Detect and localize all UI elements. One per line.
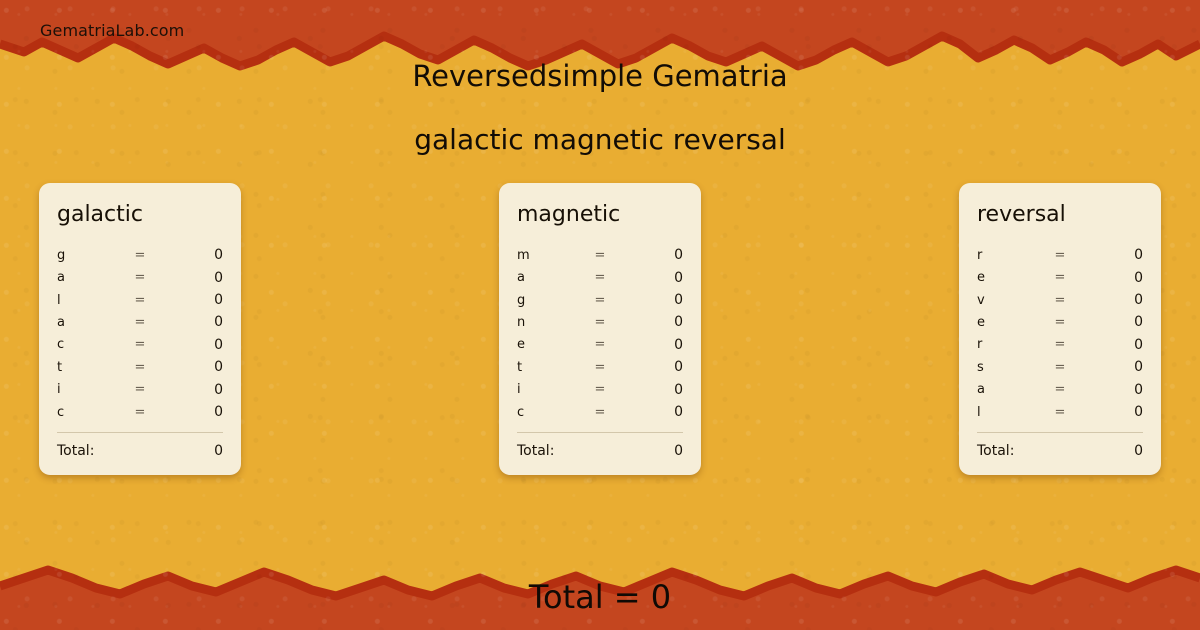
- letter-value: 0: [620, 314, 683, 330]
- letter-value: 0: [1080, 359, 1143, 375]
- card-divider: [977, 432, 1143, 433]
- equals-sign: =: [580, 315, 620, 330]
- card-total-value: 0: [214, 443, 223, 459]
- letter-value: 0: [160, 382, 223, 398]
- letter-label: e: [517, 337, 580, 352]
- letter-label: i: [57, 382, 120, 397]
- equals-sign: =: [1040, 337, 1080, 352]
- word-card-title: galactic: [57, 203, 223, 226]
- equals-sign: =: [120, 382, 160, 397]
- letter-row: v=0: [977, 289, 1143, 311]
- letter-label: n: [517, 315, 580, 330]
- equals-sign: =: [120, 293, 160, 308]
- letter-label: e: [977, 270, 1040, 285]
- letter-value: 0: [620, 247, 683, 263]
- letter-label: m: [517, 248, 580, 263]
- letter-row: a=0: [517, 266, 683, 288]
- letter-row: r=0: [977, 244, 1143, 266]
- letter-row: g=0: [57, 244, 223, 266]
- equals-sign: =: [580, 405, 620, 420]
- card-total-value: 0: [674, 443, 683, 459]
- card-total-row: Total:0: [517, 443, 683, 459]
- letter-value: 0: [160, 270, 223, 286]
- letter-row: r=0: [977, 334, 1143, 356]
- letter-value: 0: [160, 404, 223, 420]
- letter-row: n=0: [517, 311, 683, 333]
- letter-row: t=0: [57, 356, 223, 378]
- letter-value: 0: [1080, 382, 1143, 398]
- letter-label: r: [977, 337, 1040, 352]
- letter-label: a: [57, 270, 120, 285]
- equals-sign: =: [1040, 293, 1080, 308]
- letter-row: i=0: [57, 378, 223, 400]
- letter-value: 0: [620, 359, 683, 375]
- card-total-row: Total:0: [57, 443, 223, 459]
- equals-sign: =: [580, 293, 620, 308]
- letter-row: a=0: [57, 266, 223, 288]
- equals-sign: =: [1040, 382, 1080, 397]
- letter-label: c: [57, 405, 120, 420]
- letter-label: l: [977, 405, 1040, 420]
- letter-value: 0: [160, 314, 223, 330]
- word-card-title: magnetic: [517, 203, 683, 226]
- letter-value-rows: m=0a=0g=0n=0e=0t=0i=0c=0: [517, 244, 683, 423]
- card-total-row: Total:0: [977, 443, 1143, 459]
- word-card: magneticm=0a=0g=0n=0e=0t=0i=0c=0Total:0: [499, 183, 701, 475]
- equals-sign: =: [1040, 405, 1080, 420]
- letter-row: c=0: [517, 401, 683, 423]
- equals-sign: =: [1040, 315, 1080, 330]
- letter-label: a: [517, 270, 580, 285]
- letter-label: g: [517, 293, 580, 308]
- letter-row: t=0: [517, 356, 683, 378]
- word-card: reversalr=0e=0v=0e=0r=0s=0a=0l=0Total:0: [959, 183, 1161, 475]
- letter-value: 0: [620, 404, 683, 420]
- letter-label: a: [57, 315, 120, 330]
- letter-row: l=0: [57, 289, 223, 311]
- card-total-label: Total:: [977, 443, 1134, 459]
- card-total-label: Total:: [517, 443, 674, 459]
- card-divider: [517, 432, 683, 433]
- equals-sign: =: [580, 270, 620, 285]
- letter-value-rows: r=0e=0v=0e=0r=0s=0a=0l=0: [977, 244, 1143, 423]
- letter-value: 0: [1080, 270, 1143, 286]
- grand-total: Total = 0: [0, 578, 1200, 616]
- letter-label: c: [57, 337, 120, 352]
- equals-sign: =: [120, 360, 160, 375]
- letter-label: t: [57, 360, 120, 375]
- letter-label: c: [517, 405, 580, 420]
- letter-label: i: [517, 382, 580, 397]
- site-logo[interactable]: GematriaLab.com: [40, 21, 184, 40]
- letter-label: s: [977, 360, 1040, 375]
- letter-row: e=0: [517, 334, 683, 356]
- letter-row: a=0: [57, 311, 223, 333]
- letter-value: 0: [1080, 404, 1143, 420]
- letter-label: g: [57, 248, 120, 263]
- equals-sign: =: [580, 360, 620, 375]
- equals-sign: =: [580, 337, 620, 352]
- equals-sign: =: [120, 248, 160, 263]
- letter-value: 0: [620, 337, 683, 353]
- word-card-title: reversal: [977, 203, 1143, 226]
- equals-sign: =: [120, 337, 160, 352]
- equals-sign: =: [580, 248, 620, 263]
- letter-value: 0: [160, 337, 223, 353]
- letter-row: g=0: [517, 289, 683, 311]
- letter-label: l: [57, 293, 120, 308]
- letter-row: e=0: [977, 311, 1143, 333]
- equals-sign: =: [1040, 248, 1080, 263]
- letter-label: a: [977, 382, 1040, 397]
- letter-value: 0: [160, 292, 223, 308]
- letter-row: m=0: [517, 244, 683, 266]
- word-card: galacticg=0a=0l=0a=0c=0t=0i=0c=0Total:0: [39, 183, 241, 475]
- equals-sign: =: [120, 315, 160, 330]
- card-total-label: Total:: [57, 443, 214, 459]
- card-total-value: 0: [1134, 443, 1143, 459]
- letter-label: r: [977, 248, 1040, 263]
- letter-row: i=0: [517, 378, 683, 400]
- letter-value: 0: [1080, 292, 1143, 308]
- letter-value: 0: [1080, 337, 1143, 353]
- letter-row: l=0: [977, 401, 1143, 423]
- equals-sign: =: [1040, 270, 1080, 285]
- letter-row: c=0: [57, 334, 223, 356]
- letter-value: 0: [1080, 314, 1143, 330]
- letter-label: t: [517, 360, 580, 375]
- card-divider: [57, 432, 223, 433]
- equals-sign: =: [580, 382, 620, 397]
- letter-value: 0: [160, 247, 223, 263]
- page-title: Reversedsimple Gematria: [0, 59, 1200, 93]
- letter-value: 0: [1080, 247, 1143, 263]
- letter-row: a=0: [977, 378, 1143, 400]
- letter-value: 0: [620, 382, 683, 398]
- letter-row: e=0: [977, 266, 1143, 288]
- word-cards-container: galacticg=0a=0l=0a=0c=0t=0i=0c=0Total:0m…: [0, 183, 1200, 473]
- equals-sign: =: [1040, 360, 1080, 375]
- page-canvas: GematriaLab.com Reversedsimple Gematria …: [0, 0, 1200, 630]
- letter-value: 0: [620, 292, 683, 308]
- letter-label: v: [977, 293, 1040, 308]
- equals-sign: =: [120, 270, 160, 285]
- letter-row: s=0: [977, 356, 1143, 378]
- letter-row: c=0: [57, 401, 223, 423]
- page-subtitle: galactic magnetic reversal: [0, 123, 1200, 156]
- equals-sign: =: [120, 405, 160, 420]
- letter-value-rows: g=0a=0l=0a=0c=0t=0i=0c=0: [57, 244, 223, 423]
- letter-label: e: [977, 315, 1040, 330]
- letter-value: 0: [160, 359, 223, 375]
- letter-value: 0: [620, 270, 683, 286]
